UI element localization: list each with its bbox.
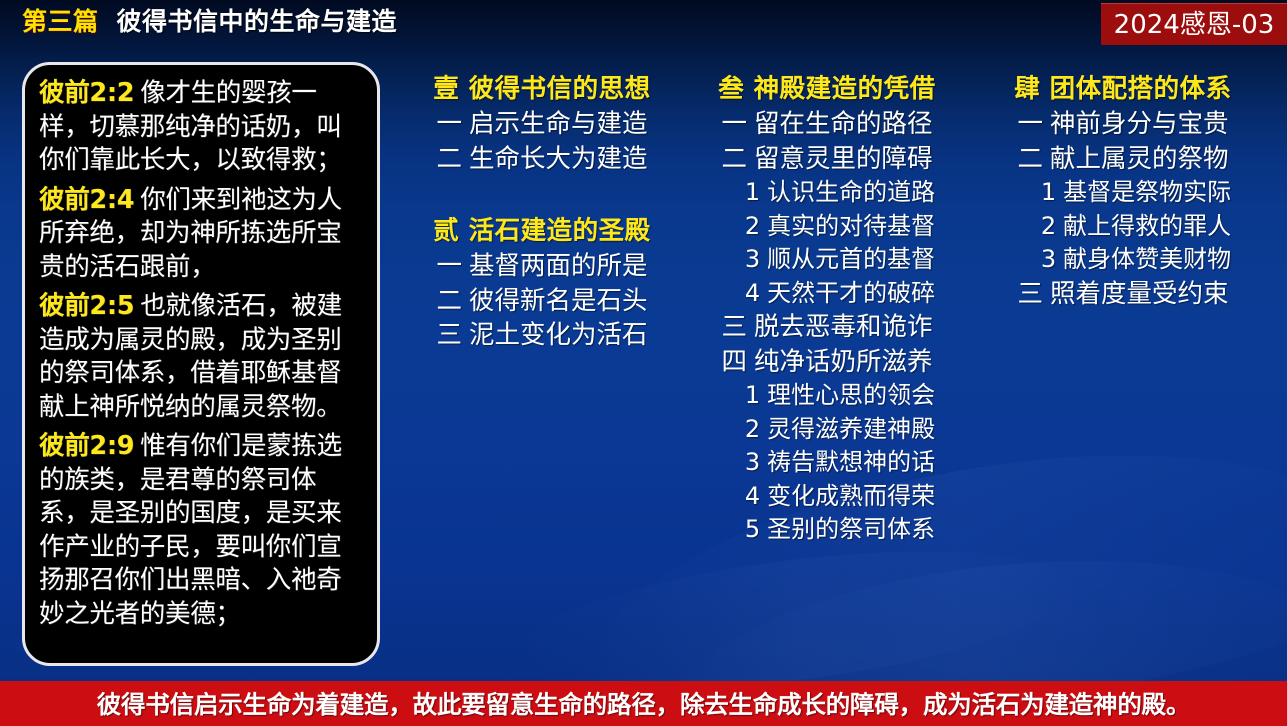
outline-item-label: 献上属灵的祭物 xyxy=(1050,144,1229,174)
outline-item-marker: 4 xyxy=(745,482,760,510)
outline-item-label: 认识生命的道路 xyxy=(767,178,935,206)
outline-item-label: 灵得滋养建神殿 xyxy=(767,415,935,443)
outline-item-marker: 二 xyxy=(436,286,462,316)
slide-header: 第三篇彼得书信中的生命与建造 2024感恩-03 xyxy=(0,0,1287,46)
outline-item-marker: 二 xyxy=(721,144,747,174)
outline-item-marker: 一 xyxy=(721,109,747,139)
badge-label: 2024感恩-03 xyxy=(1114,10,1275,40)
outline-item-level-2: 5圣别的祭司体系 xyxy=(686,513,968,547)
outline-item-level-2: 1理性心思的领会 xyxy=(686,379,968,413)
outline-item-marker: 3 xyxy=(745,245,760,273)
section-gap xyxy=(396,176,688,214)
outline-section-heading: 叁 神殿建造的凭借 xyxy=(686,72,968,106)
page-title: 第三篇彼得书信中的生命与建造 xyxy=(22,3,397,41)
title-text: 彼得书信中的生命与建造 xyxy=(117,7,398,36)
outline-item-level-1: 二彼得新名是石头 xyxy=(396,284,688,319)
outline-item-marker: 1 xyxy=(745,178,760,206)
outline-item-label: 纯净话奶所滋养 xyxy=(754,347,933,377)
outline-item-level-1: 三脱去恶毒和诡诈 xyxy=(686,310,968,345)
outline-item-level-2: 4变化成熟而得荣 xyxy=(686,480,968,514)
status-badge: 2024感恩-03 xyxy=(1101,3,1287,45)
outline-item-level-2: 2灵得滋养建神殿 xyxy=(686,413,968,447)
outline-item-level-1: 二生命长大为建造 xyxy=(396,142,688,177)
summary-text: 彼得书信启示生命为着建造，故此要留意生命的路径，除去生命成长的障碍，成为活石为建… xyxy=(97,686,1191,721)
outline-item-level-1: 三照着度量受约束 xyxy=(962,277,1284,312)
verse-reference: 彼前2:5 xyxy=(39,291,134,321)
verse-item: 彼前2:2像才生的婴孩一样，切慕那纯净的话奶，叫你们靠此长大，以致得救； xyxy=(39,77,363,178)
outline-item-marker: 一 xyxy=(436,109,462,139)
outline-item-label: 启示生命与建造 xyxy=(469,109,648,139)
outline-item-level-1: 三泥土变化为活石 xyxy=(396,318,688,353)
outline-column-1: 壹 彼得书信的思想一启示生命与建造二生命长大为建造贰 活石建造的圣殿一基督两面的… xyxy=(396,72,688,353)
outline-item-level-1: 一基督两面的所是 xyxy=(396,249,688,284)
verse-reference: 彼前2:9 xyxy=(39,431,134,461)
outline-item-marker: 3 xyxy=(745,448,760,476)
outline-item-label: 留在生命的路径 xyxy=(754,109,933,139)
verse-item: 彼前2:9惟有你们是蒙拣选的族类，是君尊的祭司体系，是圣别的国度，是买来作产业的… xyxy=(39,430,363,631)
outline-column-2: 叁 神殿建造的凭借一留在生命的路径二留意灵里的障碍1认识生命的道路2真实的对待基… xyxy=(686,72,968,547)
outline-item-label: 变化成熟而得荣 xyxy=(767,482,935,510)
outline-item-marker: 二 xyxy=(436,144,462,174)
outline-item-label: 照着度量受约束 xyxy=(1050,279,1229,309)
outline-item-level-2: 1认识生命的道路 xyxy=(686,176,968,210)
summary-banner: 彼得书信启示生命为着建造，故此要留意生命的路径，除去生命成长的障碍，成为活石为建… xyxy=(0,681,1287,726)
outline-item-level-2: 4天然干才的破碎 xyxy=(686,277,968,311)
outline-item-marker: 5 xyxy=(745,515,760,543)
outline-item-label: 真实的对待基督 xyxy=(767,212,935,240)
outline-item-level-1: 四纯净话奶所滋养 xyxy=(686,345,968,380)
outline-item-marker: 三 xyxy=(721,312,747,342)
outline-section-heading: 壹 彼得书信的思想 xyxy=(396,72,688,106)
outline-item-label: 脱去恶毒和诡诈 xyxy=(754,312,933,342)
outline-column-3: 肆 团体配搭的体系一神前身分与宝贵二献上属灵的祭物1基督是祭物实际2献上得救的罪… xyxy=(962,72,1284,311)
outline-item-level-2: 3祷告默想神的话 xyxy=(686,446,968,480)
outline-item-level-1: 一启示生命与建造 xyxy=(396,107,688,142)
outline-item-level-1: 一神前身分与宝贵 xyxy=(962,107,1284,142)
outline-item-marker: 2 xyxy=(1041,212,1056,240)
outline-item-label: 泥土变化为活石 xyxy=(469,320,648,350)
verse-item: 彼前2:5也就像活石，被建造成为属灵的殿，成为圣别的祭司体系，借着耶稣基督献上神… xyxy=(39,290,363,424)
outline-item-label: 彼得新名是石头 xyxy=(469,286,648,316)
outline-item-label: 天然干才的破碎 xyxy=(767,279,935,307)
verse-reference: 彼前2:2 xyxy=(39,78,134,108)
outline-item-level-1: 二献上属灵的祭物 xyxy=(962,142,1284,177)
outline-item-label: 生命长大为建造 xyxy=(469,144,648,174)
outline-item-label: 祷告默想神的话 xyxy=(767,448,935,476)
verse-item: 彼前2:4你们来到祂这为人所弃绝，却为神所拣选所宝贵的活石跟前， xyxy=(39,184,363,285)
outline-item-label: 理性心思的领会 xyxy=(767,381,935,409)
verse-reference: 彼前2:4 xyxy=(39,185,134,215)
outline-item-label: 献上得救的罪人 xyxy=(1063,212,1231,240)
outline-item-label: 基督是祭物实际 xyxy=(1063,178,1231,206)
slide-canvas: 第三篇彼得书信中的生命与建造 2024感恩-03 彼前2:2像才生的婴孩一样，切… xyxy=(0,0,1287,726)
outline-item-marker: 1 xyxy=(745,381,760,409)
outline-item-level-2: 1基督是祭物实际 xyxy=(962,176,1284,210)
outline-item-label: 留意灵里的障碍 xyxy=(754,144,933,174)
outline-item-marker: 2 xyxy=(745,415,760,443)
outline-item-label: 献身体赞美财物 xyxy=(1063,245,1231,273)
outline-item-marker: 一 xyxy=(436,251,462,281)
outline-item-level-1: 一留在生命的路径 xyxy=(686,107,968,142)
outline-item-label: 圣别的祭司体系 xyxy=(767,515,935,543)
outline-item-level-2: 3献身体赞美财物 xyxy=(962,243,1284,277)
outline-item-marker: 一 xyxy=(1017,109,1043,139)
verse-list: 彼前2:2像才生的婴孩一样，切慕那纯净的话奶，叫你们靠此长大，以致得救；彼前2:… xyxy=(39,77,363,631)
outline-item-level-2: 2献上得救的罪人 xyxy=(962,210,1284,244)
outline-item-level-2: 2真实的对待基督 xyxy=(686,210,968,244)
outline-item-marker: 4 xyxy=(745,279,760,307)
outline-item-label: 基督两面的所是 xyxy=(469,251,648,281)
scripture-box: 彼前2:2像才生的婴孩一样，切慕那纯净的话奶，叫你们靠此长大，以致得救；彼前2:… xyxy=(22,62,380,666)
outline-item-marker: 3 xyxy=(1041,245,1056,273)
outline-item-marker: 1 xyxy=(1041,178,1056,206)
outline-section-heading: 肆 团体配搭的体系 xyxy=(962,72,1284,106)
outline-item-label: 神前身分与宝贵 xyxy=(1050,109,1229,139)
chapter-label: 第三篇 xyxy=(22,7,99,36)
outline-item-label: 顺从元首的基督 xyxy=(767,245,935,273)
outline-item-marker: 2 xyxy=(745,212,760,240)
outline-item-level-2: 3顺从元首的基督 xyxy=(686,243,968,277)
outline-item-marker: 四 xyxy=(721,347,747,377)
outline-item-marker: 三 xyxy=(1017,279,1043,309)
outline-section-heading: 贰 活石建造的圣殿 xyxy=(396,214,688,248)
outline-item-level-1: 二留意灵里的障碍 xyxy=(686,142,968,177)
outline-item-marker: 二 xyxy=(1017,144,1043,174)
outline-item-marker: 三 xyxy=(436,320,462,350)
